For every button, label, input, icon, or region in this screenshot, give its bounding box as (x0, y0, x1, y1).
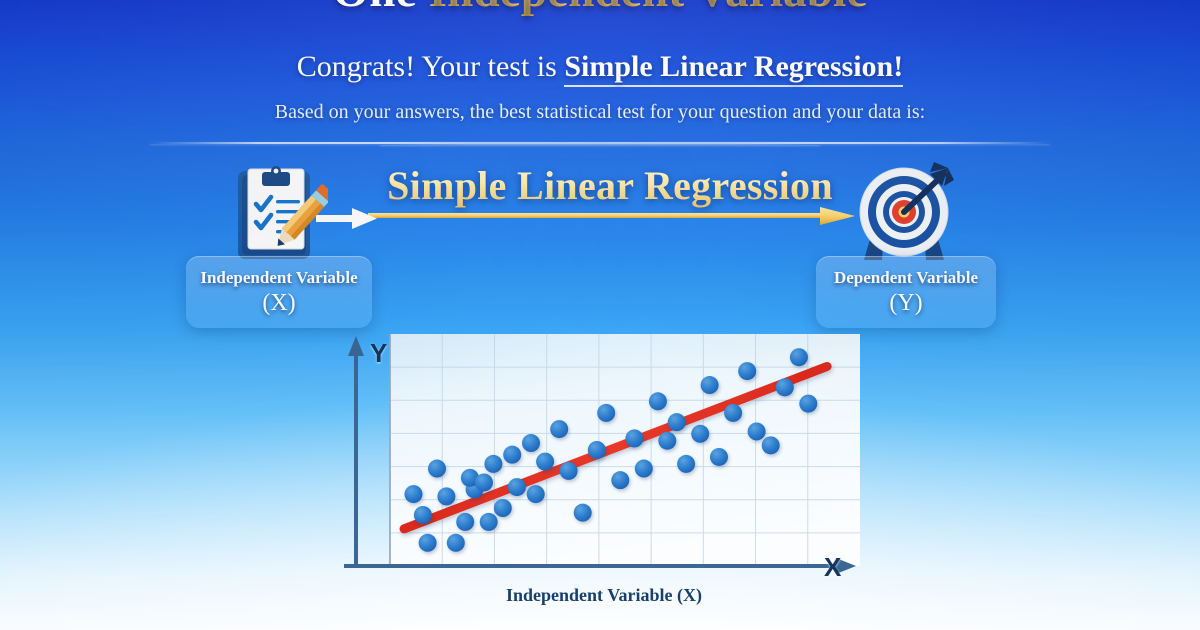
independent-variable-symbol: (X) (262, 290, 295, 317)
scatter-plot-svg (334, 330, 874, 610)
dependent-variable-card: Dependent Variable (Y) (816, 256, 996, 328)
scatter-point (668, 413, 686, 431)
scatter-point (776, 378, 794, 396)
scatter-plot: Y X Independent Variable (X) (334, 330, 874, 610)
scatter-point (437, 487, 455, 505)
diagram-headline: Simple Linear Regression (360, 162, 860, 210)
scatter-point (649, 392, 667, 410)
scatter-point (762, 436, 780, 454)
scatter-point (724, 404, 742, 422)
scatter-point (480, 513, 498, 531)
independent-variable-label: Independent Variable (200, 268, 357, 288)
plot-background (390, 334, 860, 566)
target-bullseye-arrow-icon (852, 160, 956, 264)
scatter-point (710, 448, 728, 466)
scatter-point (658, 432, 676, 450)
congrats-test-name: Simple Linear Regression! (564, 50, 903, 87)
scatter-point (456, 513, 474, 531)
banner-title: One Independent Variable (0, 0, 1200, 16)
banner-title-white: One (333, 0, 417, 17)
scatter-point (405, 485, 423, 503)
y-axis-letter: Y (370, 338, 387, 369)
scatter-point (677, 455, 695, 473)
scatter-point (550, 420, 568, 438)
congrats-line: Congrats! Your test is Simple Linear Reg… (0, 50, 1200, 84)
dependent-variable-label: Dependent Variable (834, 268, 978, 288)
scatter-point (691, 425, 709, 443)
scatter-point (414, 506, 432, 524)
x-axis-letter: X (824, 552, 841, 583)
subtitle-text: Based on your answers, the best statisti… (0, 101, 1200, 124)
scatter-point (625, 429, 643, 447)
banner-title-gold: Independent Variable (429, 0, 868, 17)
scatter-point (447, 534, 465, 552)
scatter-point (522, 434, 540, 452)
scatter-point (484, 455, 502, 473)
congrats-prefix: Congrats! Your test is (297, 50, 565, 83)
scatter-point (597, 404, 615, 422)
dependent-variable-symbol: (Y) (889, 290, 922, 317)
scatter-point (701, 376, 719, 394)
scatter-point (494, 499, 512, 517)
scatter-point (508, 478, 526, 496)
infographic-stage: One Independent Variable Congrats! Your … (0, 0, 1200, 630)
scatter-point (536, 453, 554, 471)
scatter-point (635, 460, 653, 478)
scatter-point (527, 485, 545, 503)
scatter-point (419, 534, 437, 552)
x-axis-label: Independent Variable (X) (334, 585, 874, 606)
gold-flow-arrow-icon (368, 204, 860, 230)
scatter-point (574, 504, 592, 522)
scatter-point (748, 422, 766, 440)
footer-divider (380, 142, 820, 145)
clipboard-checklist-pencil-icon (232, 163, 328, 263)
scatter-point (799, 395, 817, 413)
scatter-point (503, 446, 521, 464)
scatter-point (475, 473, 493, 491)
independent-variable-card: Independent Variable (X) (186, 256, 372, 328)
scatter-point (588, 441, 606, 459)
scatter-point (428, 460, 446, 478)
scatter-point (790, 348, 808, 366)
scatter-point (560, 462, 578, 480)
scatter-point (738, 362, 756, 380)
scatter-point (611, 471, 629, 489)
